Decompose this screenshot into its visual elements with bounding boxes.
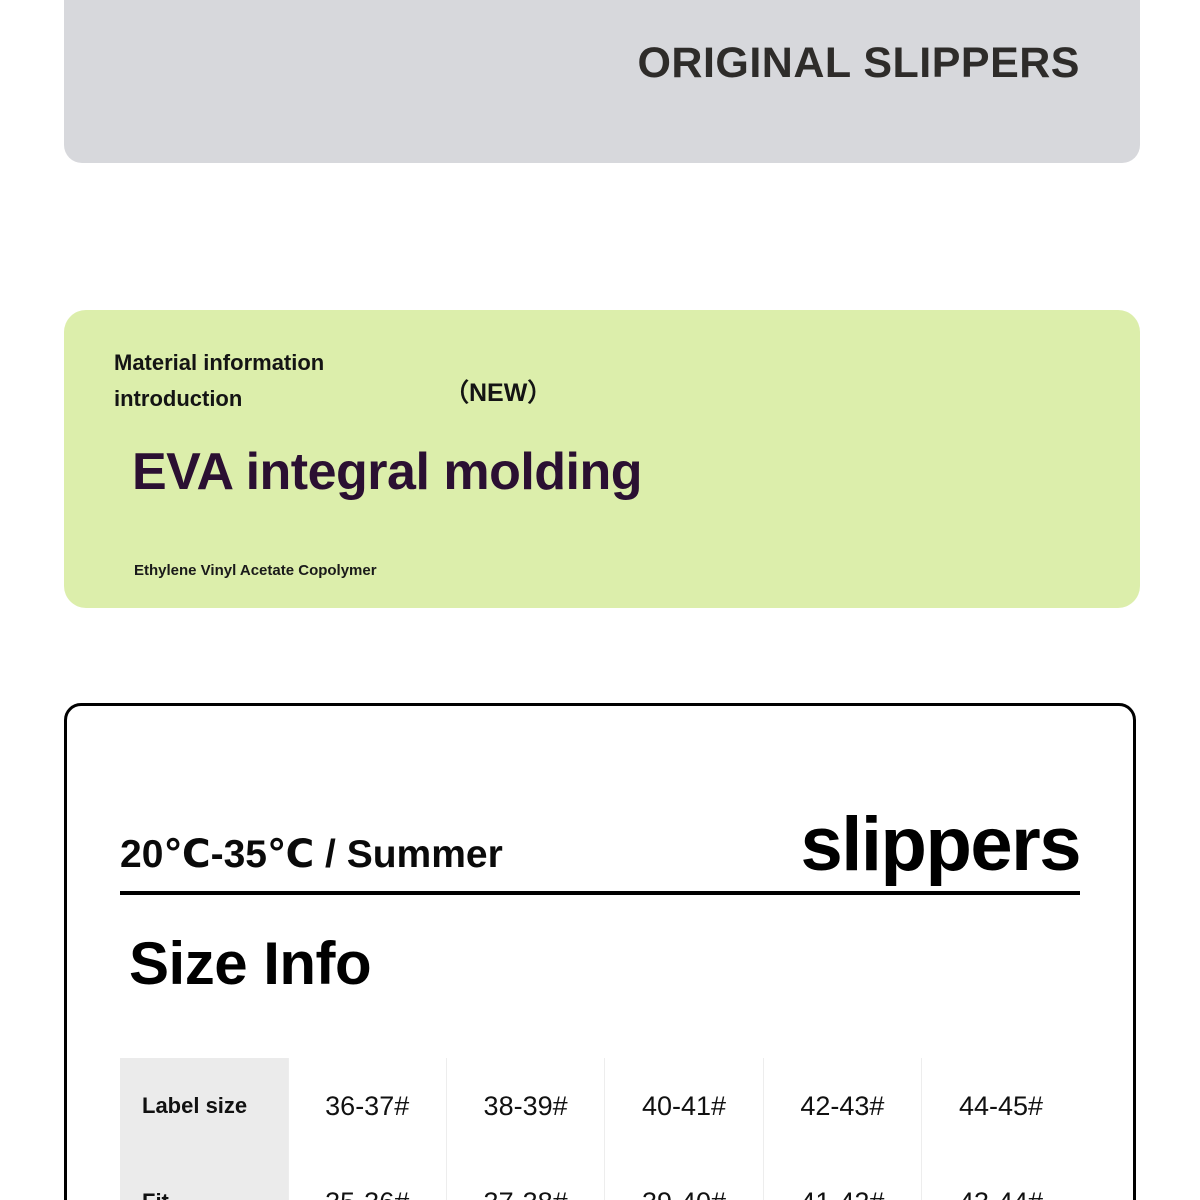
product-detail-page: ORIGINAL SLIPPERS Material information i… (0, 0, 1200, 1200)
product-word: slippers (801, 807, 1080, 883)
material-header: Material information introduction （NEW） (114, 345, 714, 409)
table-row: Fit 35-36# 37-38# 39-40# 41-42# 43-44# (120, 1154, 1080, 1200)
size-table: Label size 36-37# 38-39# 40-41# 42-43# 4… (120, 1058, 1080, 1200)
table-cell: 39-40# (605, 1154, 763, 1200)
table-cell: 44-45# (922, 1058, 1080, 1154)
table-cell: 42-43# (763, 1058, 921, 1154)
season-divider (120, 891, 1080, 895)
page-banner: ORIGINAL SLIPPERS (64, 0, 1140, 163)
size-info-card: 20℃-35℃ / Summer slippers Size Info Labe… (64, 703, 1136, 1200)
table-cell: 43-44# (922, 1154, 1080, 1200)
table-cell: 37-38# (446, 1154, 604, 1200)
banner-title: ORIGINAL SLIPPERS (637, 39, 1080, 88)
table-cell: 41-42# (763, 1154, 921, 1200)
table-cell: 40-41# (605, 1058, 763, 1154)
temperature-range: 20℃-35℃ / Summer (120, 832, 503, 877)
size-table-body: Label size 36-37# 38-39# 40-41# 42-43# 4… (120, 1058, 1080, 1200)
size-info-heading: Size Info (129, 929, 371, 998)
material-new-badge: （NEW） (444, 373, 552, 409)
season-row: 20℃-35℃ / Summer slippers (120, 791, 1080, 883)
table-row-header: Fit (120, 1154, 288, 1200)
material-subtitle: Ethylene Vinyl Acetate Copolymer (134, 562, 377, 579)
table-cell: 36-37# (288, 1058, 446, 1154)
table-cell: 35-36# (288, 1154, 446, 1200)
material-info-label: Material information introduction (114, 345, 444, 416)
table-cell: 38-39# (446, 1058, 604, 1154)
material-info-panel: Material information introduction （NEW） … (64, 310, 1140, 608)
table-row: Label size 36-37# 38-39# 40-41# 42-43# 4… (120, 1058, 1080, 1154)
table-row-header: Label size (120, 1058, 288, 1154)
material-title: EVA integral molding (132, 442, 642, 502)
